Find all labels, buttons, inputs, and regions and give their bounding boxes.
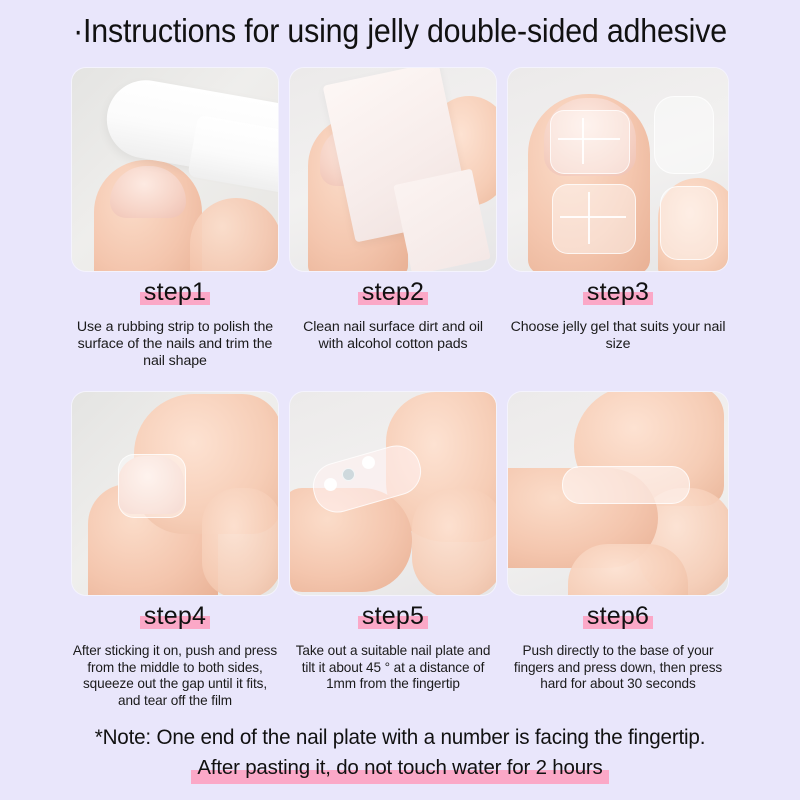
photo-jelly-gel-tabs	[508, 68, 728, 271]
step-caption-4: After sticking it on, push and press fro…	[72, 643, 278, 709]
step-label-2: step2	[358, 277, 428, 307]
photo-press-gel-on-nail	[72, 392, 278, 595]
step-caption-5: Take out a suitable nail plate and tilt …	[290, 643, 496, 693]
step-photo-card-2	[290, 68, 496, 271]
step-label-wrap-2: step2	[290, 277, 496, 315]
page-title: ·Instructions for using jelly double-sid…	[32, 8, 768, 54]
step-cell-3: step3 Choose jelly gel that suits your n…	[508, 68, 728, 370]
step-photo-card-6	[508, 392, 728, 595]
step-cell-6: step6 Push directly to the base of your …	[508, 392, 728, 709]
step-label-3: step3	[583, 277, 653, 307]
row-spacer	[72, 370, 728, 392]
step-label-wrap-4: step4	[72, 601, 278, 639]
step-cell-5: step5 Take out a suitable nail plate and…	[290, 392, 496, 709]
step-caption-1: Use a rubbing strip to polish the surfac…	[72, 319, 278, 370]
photo-cotton-pad	[290, 68, 496, 271]
photo-nail-buffer	[72, 68, 278, 271]
step-caption-3: Choose jelly gel that suits your nail si…	[508, 319, 728, 353]
step-photo-card-1	[72, 68, 278, 271]
step-label-wrap-3: step3	[508, 277, 728, 315]
note-line-1: *Note: One end of the nail plate with a …	[16, 722, 784, 752]
steps-grid: step1 Use a rubbing strip to polish the …	[72, 68, 728, 709]
step-label-wrap-1: step1	[72, 277, 278, 315]
infographic-page: ·Instructions for using jelly double-sid…	[0, 0, 800, 800]
step-photo-card-4	[72, 392, 278, 595]
photo-press-at-finger-base	[508, 392, 728, 595]
step-photo-card-3	[508, 68, 728, 271]
note-line-2-wrap: After pasting it, do not touch water for…	[0, 754, 800, 782]
step-caption-2: Clean nail surface dirt and oil with alc…	[290, 319, 496, 353]
note-line-2: After pasting it, do not touch water for…	[191, 754, 608, 782]
step-photo-card-5	[290, 392, 496, 595]
step-cell-1: step1 Use a rubbing strip to polish the …	[72, 68, 278, 370]
step-label-1: step1	[140, 277, 210, 307]
step-cell-2: step2 Clean nail surface dirt and oil wi…	[290, 68, 496, 370]
step-label-4: step4	[140, 601, 210, 631]
step-caption-6: Push directly to the base of your finger…	[508, 643, 728, 693]
steps-row-1: step1 Use a rubbing strip to polish the …	[72, 68, 728, 370]
step-label-6: step6	[583, 601, 653, 631]
step-label-wrap-6: step6	[508, 601, 728, 639]
step-label-wrap-5: step5	[290, 601, 496, 639]
steps-row-2: step4 After sticking it on, push and pre…	[72, 392, 728, 709]
step-label-5: step5	[358, 601, 428, 631]
photo-tilt-nail-plate	[290, 392, 496, 595]
step-cell-4: step4 After sticking it on, push and pre…	[72, 392, 278, 709]
footer-note: *Note: One end of the nail plate with a …	[0, 722, 800, 782]
